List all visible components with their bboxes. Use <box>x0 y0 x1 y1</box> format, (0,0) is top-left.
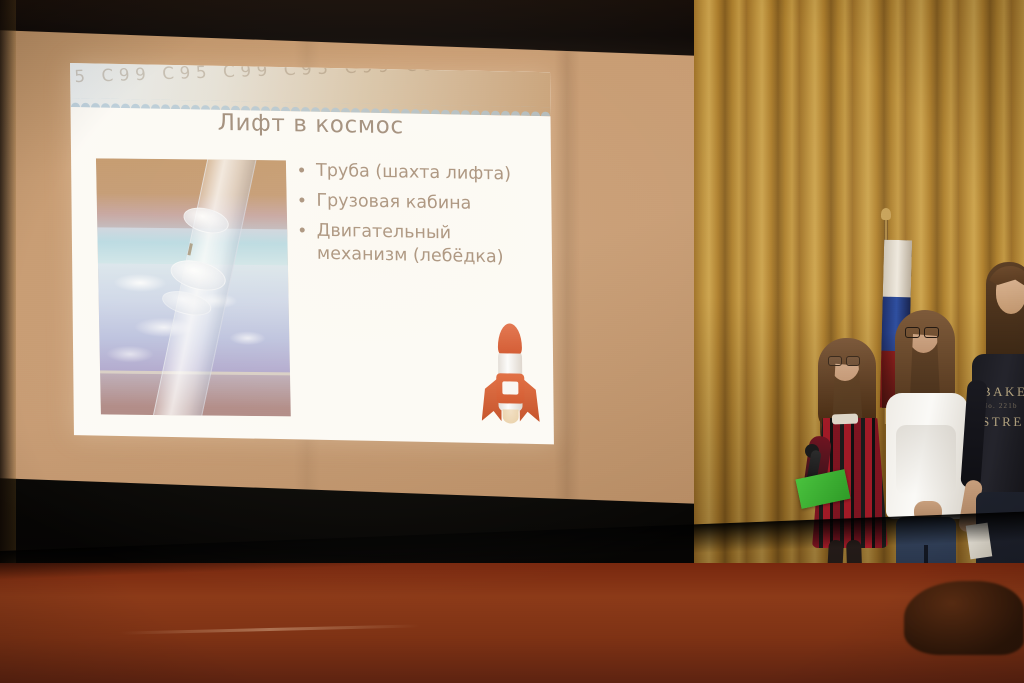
stage-photo-scene: C95 C99 C95 C99 C95 C99 C95 C99 C95 C99 … <box>0 0 1024 683</box>
tshirt-text-line-3: STREET <box>982 414 1024 430</box>
slide-photo-space-elevator <box>96 158 291 416</box>
flag-finial <box>881 208 891 220</box>
tshirt-text-line-1: BAKER <box>982 384 1024 400</box>
rocket-exhaust <box>503 409 519 423</box>
dark-wooden-object <box>904 581 1024 655</box>
projection-screen: C95 C99 C95 C99 C95 C99 C95 C99 C95 C99 … <box>0 8 720 527</box>
tshirt-text-line-2: No. 221b <box>982 402 1024 410</box>
projected-slide: C95 C99 C95 C99 C95 C99 C95 C99 C95 C99 … <box>70 63 554 444</box>
rocket-icon <box>481 323 540 434</box>
list-item: Грузовая кабина <box>316 190 537 217</box>
screen-fold-line <box>554 51 580 522</box>
glasses-icon <box>828 356 860 364</box>
sweater-shading <box>896 425 956 495</box>
rocket-nose-cone <box>498 323 522 353</box>
list-item: Двигательный механизм (лебёдка) <box>317 220 538 270</box>
list-item: Труба (шахта лифта) <box>316 160 537 187</box>
slide-bullet-list: Труба (шахта лифта) Грузовая кабина Двиг… <box>299 159 538 277</box>
glasses-icon <box>905 327 939 336</box>
rocket-window <box>502 381 518 394</box>
shirt-collar <box>832 414 858 425</box>
